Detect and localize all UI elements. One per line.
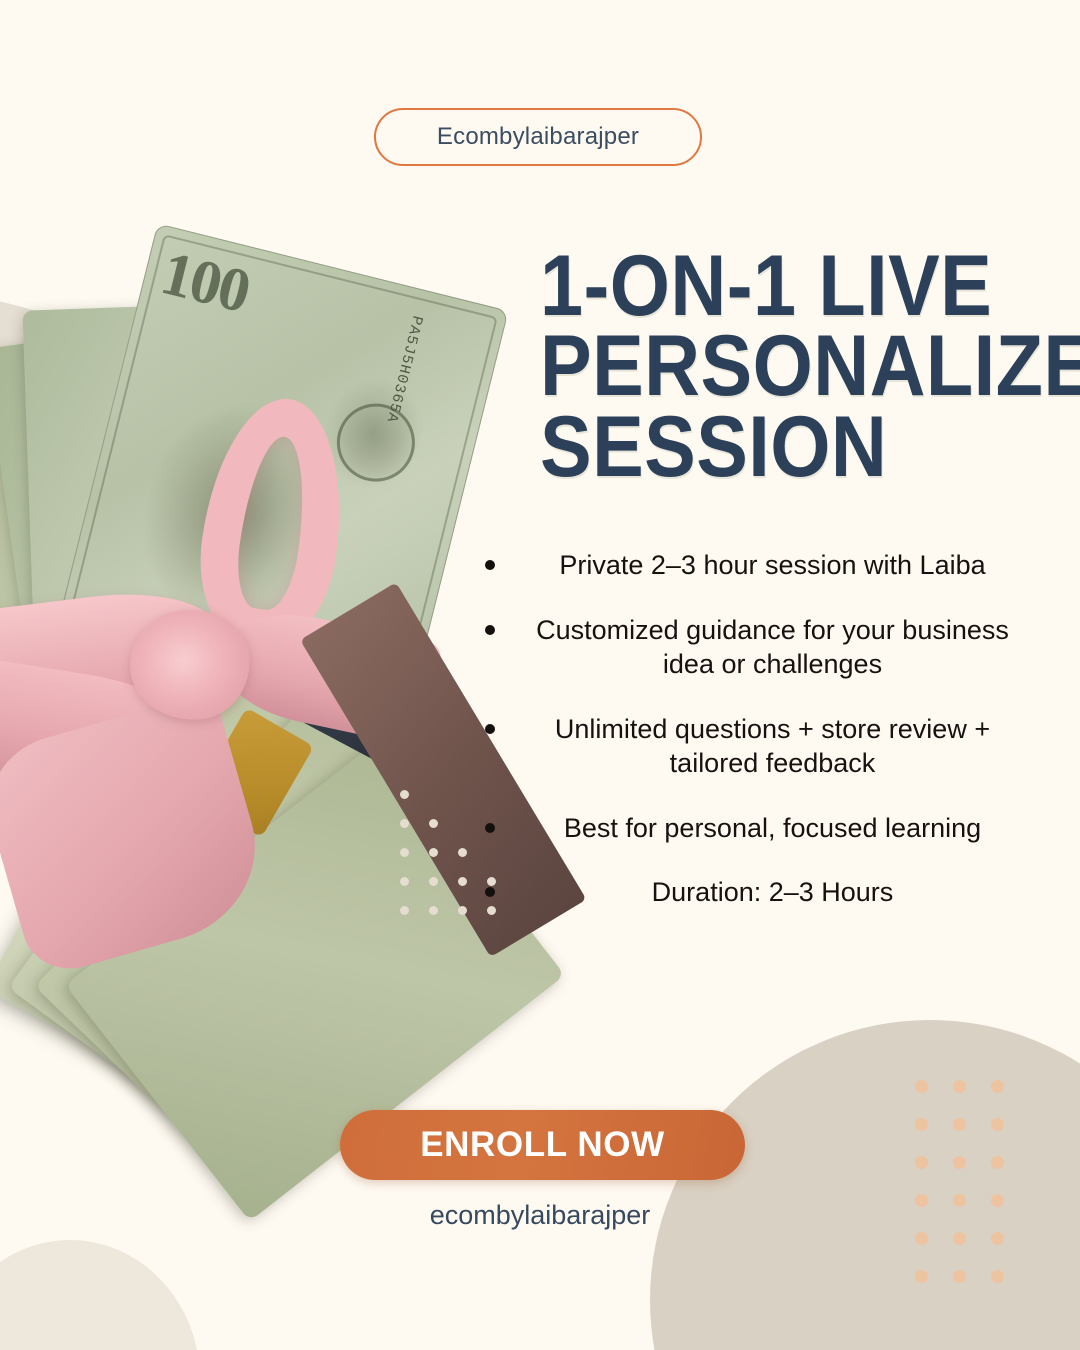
decorative-dot: [953, 1118, 966, 1131]
decorative-dot: [991, 1080, 1004, 1093]
list-item-label: Private 2–3 hour session with Laiba: [455, 548, 1040, 583]
decorative-dot: [991, 1156, 1004, 1169]
list-item-label: Best for personal, focused learning: [455, 811, 1040, 846]
poster-canvas: 100 100 PA5J5H0365A Ecombylaibarajper 1-…: [0, 0, 1080, 1350]
headline-line-2: PERSONALIZED: [540, 326, 972, 407]
page-title: 1-ON-1 LIVE PERSONALIZED SESSION: [540, 246, 972, 488]
list-item: Customized guidance for your business id…: [455, 613, 1040, 682]
brand-badge[interactable]: Ecombylaibarajper: [374, 108, 702, 166]
bullet-point-icon: [485, 823, 495, 833]
headline-line-1: 1-ON-1 LIVE: [540, 246, 972, 327]
decorative-dot: [429, 877, 438, 886]
enroll-now-label: ENROLL NOW: [420, 1125, 665, 1165]
decorative-dot: [915, 1118, 928, 1131]
decorative-dot: [915, 1270, 928, 1283]
list-item: Duration: 2–3 Hours: [455, 875, 1040, 910]
decorative-dot: [429, 819, 438, 828]
decorative-dot: [991, 1232, 1004, 1245]
decorative-dot: [400, 848, 409, 857]
list-item: Private 2–3 hour session with Laiba: [455, 548, 1040, 583]
decorative-shape-bottom-right: [650, 1020, 1080, 1350]
decorative-dot: [400, 906, 409, 915]
enroll-now-button[interactable]: ENROLL NOW: [340, 1110, 745, 1180]
bullet-point-icon: [485, 724, 495, 734]
list-item: Unlimited questions + store review + tai…: [455, 712, 1040, 781]
decorative-dot: [400, 819, 409, 828]
list-item-label: Customized guidance for your business id…: [455, 613, 1040, 682]
decorative-dot: [953, 1080, 966, 1093]
decorative-dot: [429, 848, 438, 857]
decorative-dot: [429, 906, 438, 915]
brand-badge-label: Ecombylaibarajper: [437, 123, 639, 151]
list-item-label: Duration: 2–3 Hours: [455, 875, 1040, 910]
decorative-dot: [915, 1232, 928, 1245]
decorative-dot: [991, 1270, 1004, 1283]
decorative-dot: [915, 1080, 928, 1093]
decorative-dot: [991, 1118, 1004, 1131]
decorative-dot: [915, 1156, 928, 1169]
footer-handle: ecombylaibarajper: [0, 1200, 1080, 1231]
headline-line-3: SESSION: [540, 407, 972, 488]
feature-bullet-list: Private 2–3 hour session with LaibaCusto…: [455, 548, 1040, 940]
decorative-dot: [400, 877, 409, 886]
decorative-dot: [953, 1270, 966, 1283]
decorative-shape-bottom-left: [0, 1240, 200, 1350]
decorative-dot: [400, 790, 409, 799]
decorative-dot: [953, 1156, 966, 1169]
list-item-label: Unlimited questions + store review + tai…: [455, 712, 1040, 781]
bullet-point-icon: [485, 560, 495, 570]
bullet-point-icon: [485, 625, 495, 635]
list-item: Best for personal, focused learning: [455, 811, 1040, 846]
decorative-dot: [953, 1232, 966, 1245]
